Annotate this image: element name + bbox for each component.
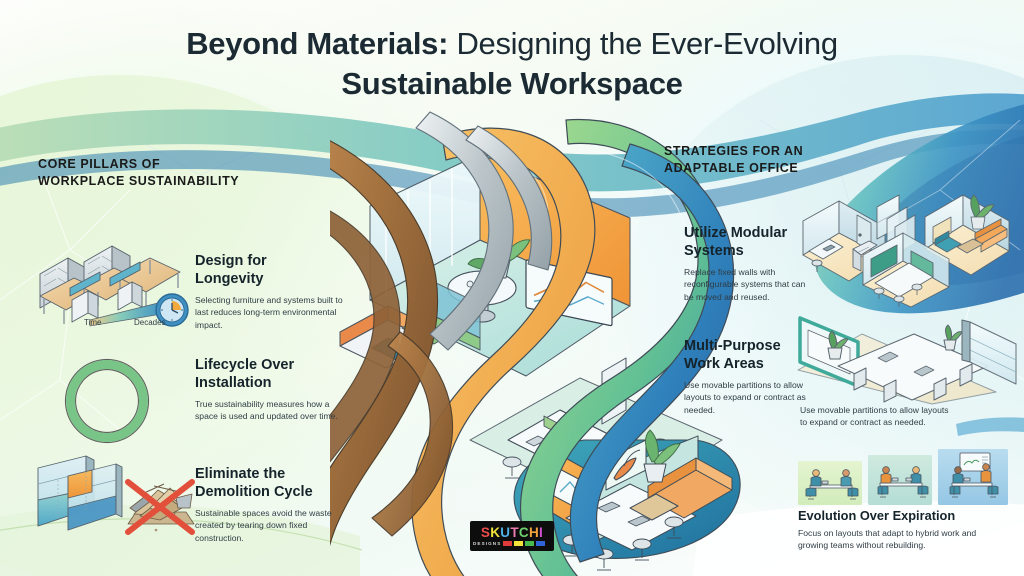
logo-subtitle-row: DESIGNS <box>473 541 551 546</box>
logo-letter-3: T <box>510 526 519 540</box>
item-evolution-over-expiration: Evolution Over Expiration Focus on layou… <box>798 508 1003 552</box>
item-title-line-2: Longevity <box>195 271 345 289</box>
section-header-line-2: WORKPLACE SUSTAINABILITY <box>38 173 239 190</box>
skutchi-designs-logo[interactable]: SKUTCHI DESIGNS <box>470 521 554 551</box>
item-title-line-1: Design for <box>195 253 345 271</box>
logo-letter-0: S <box>481 526 490 540</box>
item-design-for-longevity: Design for Longevity Selecting furniture… <box>195 253 345 331</box>
section-header-strategies: STRATEGIES FOR AN ADAPTABLE OFFICE <box>664 143 803 178</box>
title-line-2: Sustainable Workspace <box>0 64 1024 104</box>
logo-swatch-3 <box>536 541 545 546</box>
item-title-line-1: Lifecycle Over <box>195 357 347 375</box>
item-body: Replace fixed walls with reconfigurable … <box>684 266 816 303</box>
logo-color-swatches <box>503 541 545 546</box>
logo-swatch-1 <box>514 541 523 546</box>
item-body: True sustainability measures how a space… <box>195 398 347 423</box>
item-title-line-2: Systems <box>684 243 816 261</box>
item-title: Evolution Over Expiration <box>798 508 1003 524</box>
logo-letter-6: I <box>539 526 543 540</box>
logo-letter-4: C <box>519 526 529 540</box>
item-title-line-1: Eliminate the <box>195 466 347 484</box>
item-title: Multi-Purpose Work Areas <box>684 338 810 374</box>
logo-letter-5: H <box>529 526 539 540</box>
item-title: Lifecycle Over Installation <box>195 357 347 393</box>
infographic-canvas: Beyond Materials: Designing the Ever-Evo… <box>0 0 1024 576</box>
item-body: Selecting furniture and systems built to… <box>195 294 345 331</box>
logo-letter-1: K <box>490 526 500 540</box>
title-line-1: Beyond Materials: Designing the Ever-Evo… <box>0 24 1024 64</box>
logo-wordmark: SKUTCHI <box>481 526 543 540</box>
item-body: Use movable partitions to allow layouts … <box>684 379 810 416</box>
logo-swatch-0 <box>503 541 512 546</box>
glass-partition-panels <box>38 456 122 530</box>
item-multi-purpose-work-areas: Multi-Purpose Work Areas Use movable par… <box>684 338 810 416</box>
item-title: Utilize Modular Systems <box>684 225 816 261</box>
section-header-line-2: ADAPTABLE OFFICE <box>664 160 803 177</box>
item-body: Focus on layouts that adapt to hybrid wo… <box>798 527 1003 552</box>
lifecycle-loop-illustration <box>66 360 148 442</box>
section-header-core-pillars: CORE PILLARS OF WORKPLACE SUSTAINABILITY <box>38 156 239 191</box>
item-title-line-2: Installation <box>195 375 347 393</box>
section-header-line-1: STRATEGIES FOR AN <box>664 143 803 160</box>
title-bold: Beyond Materials: <box>186 26 448 61</box>
page-title: Beyond Materials: Designing the Ever-Evo… <box>0 24 1024 103</box>
item-eliminate-demolition-cycle: Eliminate the Demolition Cycle Sustainab… <box>195 466 347 544</box>
timeline-end-label: Decades <box>134 318 166 327</box>
section-header-line-1: CORE PILLARS OF <box>38 156 239 173</box>
item-title-line-2: Demolition Cycle <box>195 484 347 502</box>
demolition-cycle-illustration <box>30 450 195 540</box>
logo-letter-2: U <box>500 526 510 540</box>
item-lifecycle-over-installation: Lifecycle Over Installation True sustain… <box>195 357 347 423</box>
item-utilize-modular-systems: Utilize Modular Systems Replace fixed wa… <box>684 225 816 303</box>
item-title-line-2: Work Areas <box>684 356 810 374</box>
timeline-start-label: Time <box>84 318 101 327</box>
caption-movable-partitions: Use movable partitions to allow layouts … <box>800 404 950 429</box>
modular-room-units-illustration <box>795 193 1017 308</box>
item-title-line-1: Multi-Purpose <box>684 338 810 356</box>
plant-icon-5 <box>944 325 962 350</box>
item-title: Eliminate the Demolition Cycle <box>195 466 347 502</box>
item-body: Sustainable spaces avoid the waste creat… <box>195 507 347 544</box>
office-desks-timeline-illustration <box>34 240 194 336</box>
title-regular: Designing the Ever-Evolving <box>448 26 838 61</box>
open-plan-partitions-illustration <box>792 300 1022 405</box>
team-growth-panels-illustration <box>796 447 1012 507</box>
logo-subtitle: DESIGNS <box>473 541 501 546</box>
item-title-line-1: Utilize Modular <box>684 225 816 243</box>
logo-swatch-2 <box>525 541 534 546</box>
item-title: Design for Longevity <box>195 253 345 289</box>
